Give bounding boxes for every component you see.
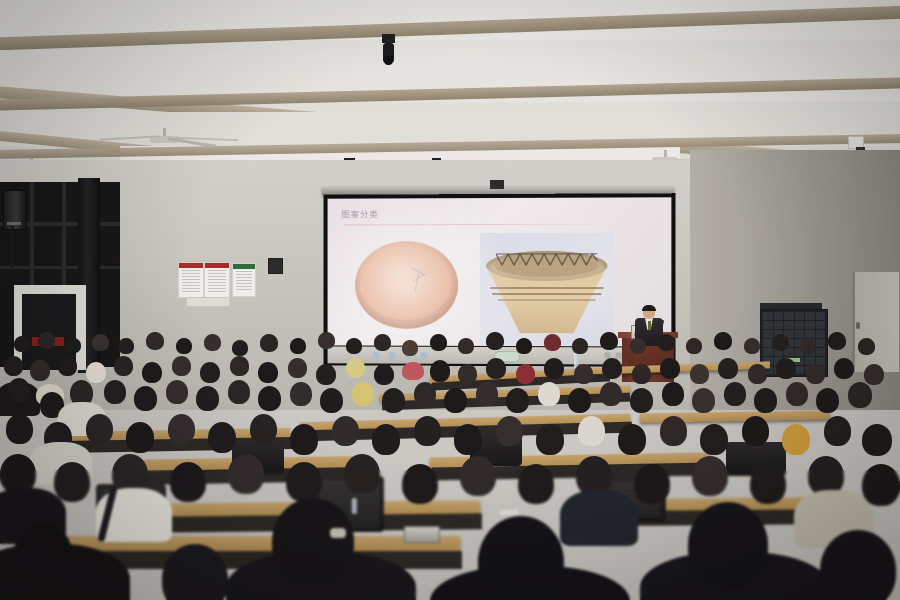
audience-head: [260, 334, 278, 352]
audience-head: [430, 334, 447, 351]
lecture-hall-photo: 图案分类: [0, 0, 900, 600]
audience-head: [862, 464, 900, 506]
audience-head: [118, 338, 134, 354]
hair-clip: [330, 528, 346, 538]
foreground-head: [272, 498, 354, 584]
audience-head: [232, 340, 248, 356]
audience-head: [658, 334, 675, 351]
audience-head: [864, 364, 884, 385]
audience-head: [382, 388, 405, 413]
audience-head: [344, 454, 380, 494]
audience-head: [414, 416, 441, 446]
notice-board: [204, 262, 230, 298]
audience-head: [58, 356, 77, 376]
audience-head: [630, 388, 653, 413]
audience-head: [290, 382, 312, 406]
audience-head: [714, 332, 732, 350]
screen-glare: [328, 197, 526, 346]
audience-head: [200, 362, 220, 383]
spotlight-icon: [382, 34, 395, 43]
audience-head: [414, 382, 436, 406]
audience-head: [816, 388, 839, 413]
notice-header: [233, 264, 255, 269]
notice-board: [178, 262, 204, 298]
audience-head: [166, 380, 188, 404]
audience-head: [458, 338, 474, 354]
audience-head: [782, 424, 810, 455]
audience-head: [632, 364, 651, 384]
audience-head: [230, 356, 249, 376]
audience-head: [630, 338, 646, 354]
audience-head: [86, 362, 106, 383]
audience-head: [538, 382, 560, 406]
audience-head: [250, 414, 277, 444]
audience-head: [258, 362, 278, 383]
audience-head: [430, 360, 450, 382]
audience-head: [568, 388, 591, 413]
audience-head: [476, 382, 498, 406]
audience-head: [700, 424, 728, 455]
audience-head: [286, 462, 322, 502]
audience-head: [374, 364, 394, 385]
audience-head: [208, 422, 236, 453]
paper-sheet: [500, 510, 518, 516]
audience-head: [516, 338, 532, 354]
audience-head: [572, 338, 588, 354]
audience-head: [172, 356, 191, 376]
audience-head: [176, 338, 192, 354]
foreground-head: [478, 516, 564, 600]
audience-head: [290, 424, 318, 455]
audience-head: [126, 422, 154, 453]
audience-head: [690, 364, 709, 384]
audience-head: [776, 358, 796, 379]
audience-head: [114, 356, 133, 376]
audience-head: [662, 382, 684, 406]
audience-head: [228, 454, 264, 494]
audience-head: [258, 386, 281, 411]
audience-head: [316, 364, 336, 385]
foreground-head: [688, 502, 768, 588]
audience-head: [142, 362, 162, 383]
audience-head: [402, 464, 438, 504]
water-bottle: [352, 498, 357, 514]
audience-head: [600, 382, 622, 406]
audience-head: [618, 424, 646, 455]
audience-head: [8, 378, 30, 402]
audience-head: [168, 414, 195, 444]
audience-head: [460, 456, 496, 496]
audience-head: [828, 332, 846, 350]
audience-head: [516, 364, 535, 384]
audience-head: [196, 386, 219, 411]
wall-plaque: [186, 297, 230, 307]
audience-head: [352, 382, 374, 406]
audience-head: [660, 416, 687, 446]
audience-head: [66, 338, 81, 353]
audience-head: [332, 416, 359, 446]
audience-head: [290, 338, 306, 354]
audience-head: [634, 464, 670, 504]
projection-surface: 图案分类: [328, 197, 672, 346]
audience-head: [4, 356, 23, 376]
spotlight-icon: [384, 56, 393, 65]
speaker-bracket: [11, 226, 14, 268]
audience-head: [54, 462, 90, 502]
audience-head: [346, 338, 362, 354]
audience-head: [772, 334, 789, 351]
audience-head: [806, 364, 825, 384]
audience-head: [320, 388, 343, 413]
audience-head: [374, 334, 391, 351]
audience-head: [14, 336, 30, 352]
audience-head: [754, 388, 777, 413]
audience-head: [6, 414, 33, 444]
audience-head: [486, 332, 504, 350]
audience-head: [458, 364, 477, 384]
audience-head: [134, 386, 157, 411]
audience-head: [536, 424, 564, 455]
audience-head: [30, 360, 50, 381]
audience-head: [834, 358, 854, 379]
door-handle[interactable]: [856, 322, 860, 329]
audience-head: [318, 332, 335, 349]
audience-head: [660, 358, 680, 379]
screen-mount-clip: [490, 180, 504, 189]
wall-speaker: [3, 190, 27, 230]
foreground-head: [14, 524, 72, 582]
audience-head: [718, 358, 738, 379]
audience-head: [692, 388, 715, 413]
audience-head: [600, 332, 618, 350]
audience-head: [496, 416, 523, 446]
audience-head: [104, 380, 126, 404]
audience-head: [602, 358, 622, 379]
audience-head: [686, 338, 702, 354]
audience-head: [544, 334, 561, 351]
audience-head: [848, 382, 872, 408]
audience-shoulders: [560, 490, 638, 546]
audience-head: [506, 388, 529, 413]
audience-head: [692, 456, 728, 496]
audience-head: [454, 424, 482, 455]
audience-head: [288, 358, 307, 378]
audience-head: [204, 334, 221, 351]
audience-head: [858, 338, 875, 355]
audience-head: [750, 464, 786, 504]
student-laptop: [404, 526, 440, 543]
pink-cap: [402, 362, 424, 380]
audience-head: [862, 424, 892, 456]
audience-head: [824, 416, 851, 446]
audience-head: [228, 380, 250, 404]
audience: [0, 330, 900, 600]
audience-head: [86, 414, 113, 444]
notice-board: [232, 263, 256, 297]
wall-switch-box: [268, 258, 283, 274]
audience-head: [742, 416, 769, 446]
audience-head: [444, 388, 467, 413]
audience-head: [146, 332, 164, 350]
notice-header: [205, 263, 229, 268]
audience-head: [800, 338, 816, 354]
audience-head: [748, 364, 767, 384]
audience-head: [92, 334, 109, 351]
audience-head: [786, 382, 808, 406]
audience-head: [544, 358, 564, 379]
audience-head: [170, 462, 206, 502]
audience-head: [372, 424, 400, 455]
audience-head: [486, 358, 506, 379]
audience-head: [38, 332, 55, 349]
notice-header: [179, 263, 203, 268]
audience-head: [518, 464, 554, 504]
audience-head: [724, 382, 746, 406]
foreground-head: [820, 530, 896, 600]
audience-head: [574, 364, 593, 384]
audience-head: [346, 358, 365, 378]
audience-head: [402, 340, 418, 356]
audience-head: [578, 416, 605, 446]
audience-head: [744, 338, 760, 354]
